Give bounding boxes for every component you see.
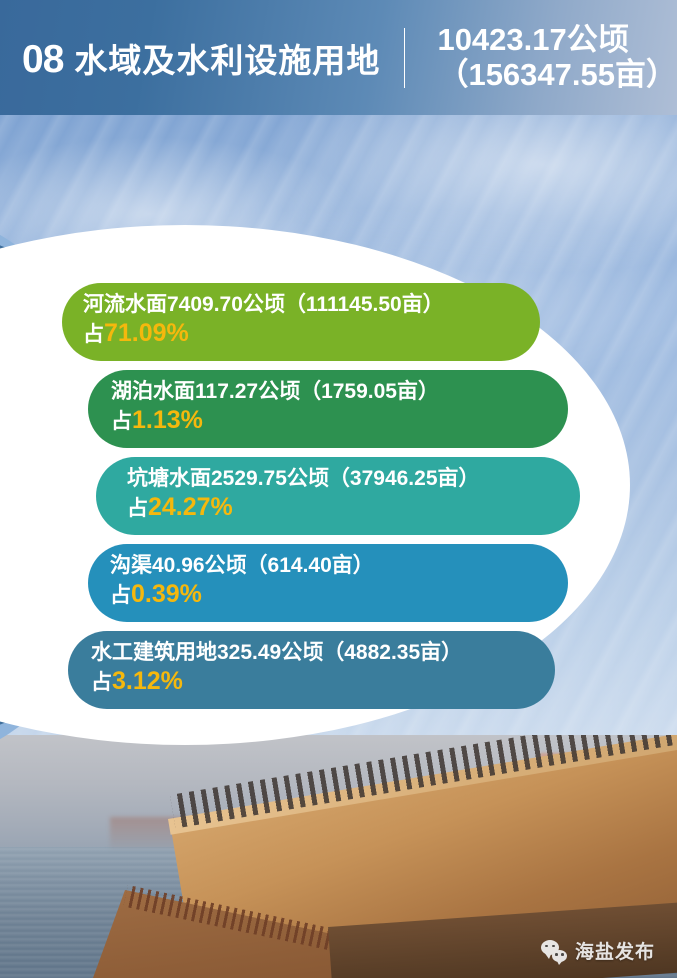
bar-ditch[interactable]: 沟渠40.96公顷（614.40亩） 占0.39%	[88, 544, 568, 622]
bar-percent-prefix-1: 占	[111, 410, 132, 433]
bar-pond-surface[interactable]: 坑塘水面2529.75公顷（37946.25亩） 占24.27%	[96, 457, 580, 535]
bar-percent-prefix-3: 占	[110, 584, 131, 607]
bar-text-group-0: 河流水面7409.70公顷（111145.50亩） 占71.09%	[62, 293, 540, 348]
bar-hydraulic-structure-land[interactable]: 水工建筑用地325.49公顷（4882.35亩） 占3.12%	[68, 631, 555, 709]
bar-percent-value-2: 24.27%	[148, 493, 233, 521]
bar-lake-surface[interactable]: 湖泊水面117.27公顷（1759.05亩） 占1.13%	[88, 370, 568, 448]
bar-percent-line-2: 占24.27%	[127, 493, 580, 523]
watermark: 海盐发布	[541, 937, 655, 964]
bar-text-group-3: 沟渠40.96公顷（614.40亩） 占0.39%	[88, 554, 568, 609]
bar-percent-line-3: 占0.39%	[110, 580, 568, 610]
header-right-group: 10423.17公顷 （156347.55亩）	[437, 24, 677, 92]
bar-label-4: 水工建筑用地325.49公顷（4882.35亩）	[91, 641, 555, 666]
bar-label-0: 河流水面7409.70公顷（111145.50亩）	[83, 293, 540, 318]
bar-percent-value-3: 0.39%	[131, 580, 202, 608]
bar-percent-value-0: 71.09%	[104, 319, 189, 347]
header-bar: 08 水域及水利设施用地 10423.17公顷 （156347.55亩）	[0, 0, 677, 115]
total-hectares: 10423.17公顷	[437, 24, 677, 57]
bar-text-group-1: 湖泊水面117.27公顷（1759.05亩） 占1.13%	[88, 380, 568, 435]
total-mu: （156347.55亩）	[437, 59, 677, 92]
bar-label-3: 沟渠40.96公顷（614.40亩）	[110, 554, 568, 579]
bar-label-2: 坑塘水面2529.75公顷（37946.25亩）	[127, 467, 580, 492]
bar-percent-prefix-2: 占	[127, 497, 148, 520]
bar-percent-value-1: 1.13%	[132, 406, 203, 434]
wechat-icon	[541, 940, 567, 962]
page-title: 水域及水利设施用地	[74, 34, 380, 82]
infographic-poster: 08 水域及水利设施用地 10423.17公顷 （156347.55亩）	[0, 0, 677, 978]
bar-percent-line-1: 占1.13%	[111, 406, 568, 436]
header-left-group: 08 水域及水利设施用地	[0, 34, 380, 82]
bar-text-group-2: 坑塘水面2529.75公顷（37946.25亩） 占24.27%	[96, 467, 580, 522]
section-number: 08	[22, 38, 63, 82]
bar-text-group-4: 水工建筑用地325.49公顷（4882.35亩） 占3.12%	[68, 641, 555, 696]
bar-percent-value-4: 3.12%	[112, 667, 183, 695]
bar-river-surface[interactable]: 河流水面7409.70公顷（111145.50亩） 占71.09%	[62, 283, 540, 361]
bar-label-1: 湖泊水面117.27公顷（1759.05亩）	[111, 380, 568, 405]
header-divider	[404, 28, 405, 88]
bar-percent-line-0: 占71.09%	[83, 319, 540, 349]
bar-percent-prefix-0: 占	[83, 323, 104, 346]
bar-percent-line-4: 占3.12%	[91, 667, 555, 697]
chart-bars: 河流水面7409.70公顷（111145.50亩） 占71.09% 湖泊水面11…	[0, 115, 677, 755]
bar-percent-prefix-4: 占	[91, 671, 112, 694]
watermark-text: 海盐发布	[575, 937, 655, 964]
